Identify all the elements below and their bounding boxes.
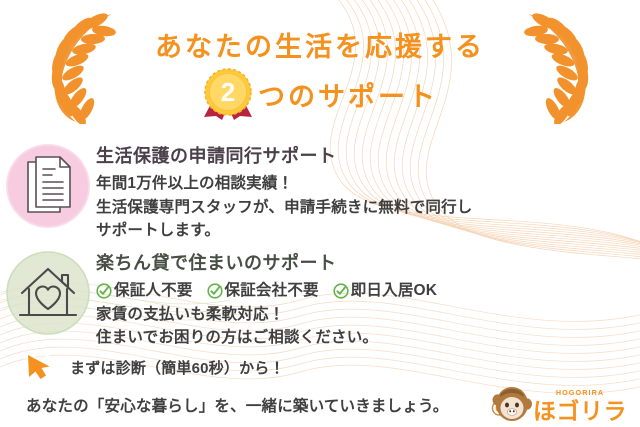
support-1-line-3: サポートします。	[96, 219, 632, 243]
house-heart-icon	[0, 245, 96, 345]
banner-header: あなたの生活を応援する 2 つのサポート	[0, 0, 640, 126]
support-1-line-2: 生活保護専門スタッフが、申請手続きに無料で同行し	[96, 196, 632, 220]
headline-line-2-row: 2 つのサポート	[0, 68, 640, 120]
support-1-line-1: 年間1万件以上の相談実績！	[96, 172, 632, 196]
footer-row-1: まずは診断（簡単60秒）から！	[0, 352, 640, 382]
footer-row-2: あなたの「安心な暮らし」を、一緒に築いていきましょう。	[0, 385, 640, 425]
check-label-1: 保証人不要	[114, 279, 193, 303]
medal-number: 2	[202, 68, 254, 120]
support-1-body: 生活保護の申請同行サポート 年間1万件以上の相談実績！ 生活保護専門スタッフが、…	[96, 138, 640, 243]
check-circle-icon	[207, 283, 223, 299]
check-circle-icon	[333, 283, 349, 299]
support-2-icon-wrap	[0, 245, 96, 345]
support-item-1: 生活保護の申請同行サポート 年間1万件以上の相談実績！ 生活保護専門スタッフが、…	[0, 138, 640, 243]
check-item-2: 保証会社不要	[207, 279, 319, 303]
footer-line-1-text: まずは診断（簡単60秒）から！	[70, 357, 285, 378]
check-circle-icon	[96, 283, 112, 299]
logo-wordmark: ほゴリラ	[534, 398, 626, 424]
hogorira-logo[interactable]: HOGORIRA ほゴリラ	[490, 385, 626, 425]
support-1-title: 生活保護の申請同行サポート	[96, 142, 632, 168]
logo-romaji: HOGORIRA	[556, 388, 604, 397]
support-2-body: 楽ちん貸で住まいのサポート 保証人不要 保証会社不要	[96, 245, 640, 350]
gorilla-mascot-icon	[490, 385, 534, 425]
support-2-line-2: 住まいでお困りの方はご相談ください。	[96, 326, 632, 350]
check-item-1: 保証人不要	[96, 279, 193, 303]
banner-footer: まずは診断（簡単60秒）から！ あなたの「安心な暮らし」を、一緒に築いていきまし…	[0, 352, 640, 425]
medal-badge: 2	[202, 68, 254, 120]
support-banner: あなたの生活を応援する 2 つのサポート	[0, 0, 640, 427]
support-1-icon-wrap	[0, 138, 96, 238]
support-2-title: 楽ちん貸で住まいのサポート	[96, 249, 632, 275]
click-cursor-icon	[22, 352, 68, 382]
support-2-check-row: 保証人不要 保証会社不要 即日入居OK	[96, 279, 632, 303]
support-item-2: 楽ちん貸で住まいのサポート 保証人不要 保証会社不要	[0, 245, 640, 350]
hogorira-wordmark: HOGORIRA ほゴリラ	[534, 385, 626, 425]
check-label-3: 即日入居OK	[351, 279, 437, 303]
check-label-2: 保証会社不要	[225, 279, 319, 303]
support-2-line-1: 家賃の支払いも柔軟対応！	[96, 303, 632, 327]
headline-line-1: あなたの生活を応援する	[0, 25, 640, 64]
footer-line-2-text: あなたの「安心な暮らし」を、一緒に築いていきましょう。	[26, 394, 490, 416]
document-pages-icon	[0, 138, 96, 238]
headline-line-2-text: つのサポート	[258, 75, 438, 114]
check-item-3: 即日入居OK	[333, 279, 437, 303]
